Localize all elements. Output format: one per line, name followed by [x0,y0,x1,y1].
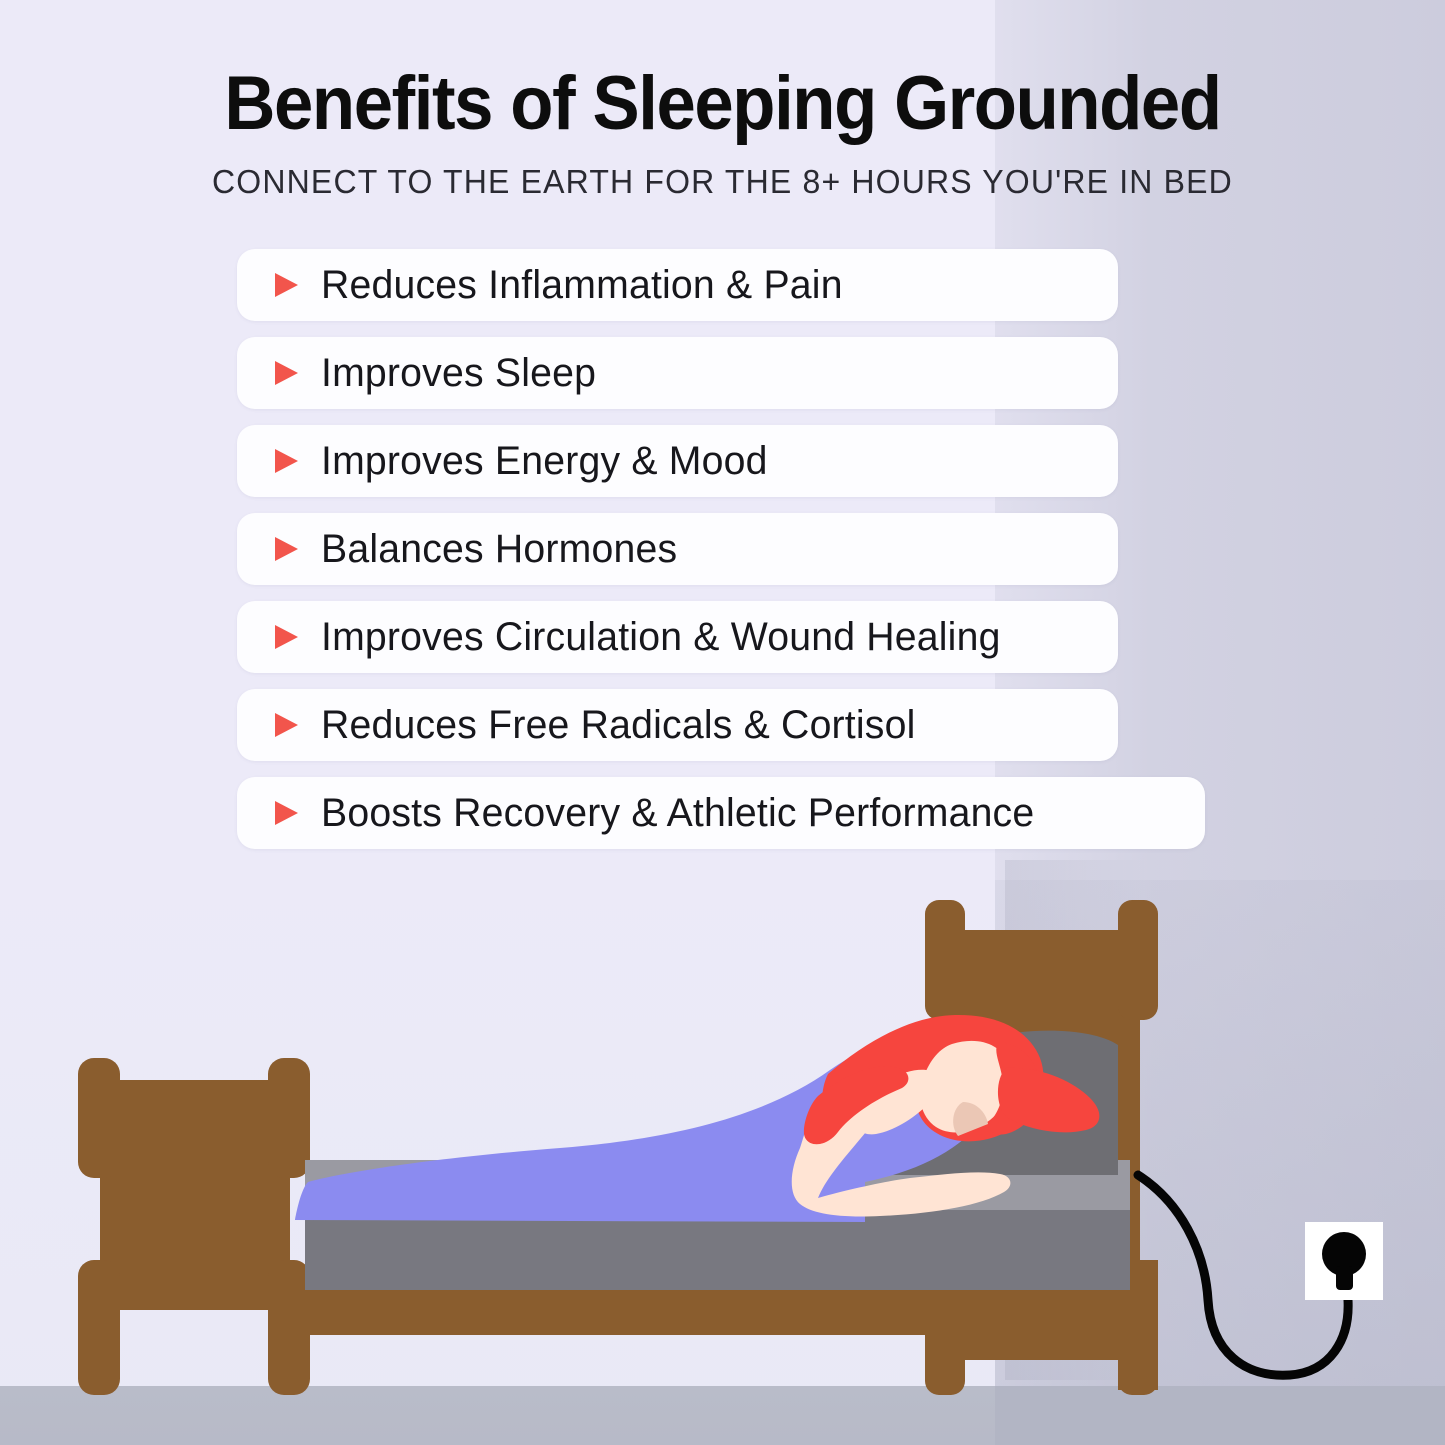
list-item[interactable]: Balances Hormones [237,513,1118,585]
list-item-label: Boosts Recovery & Athletic Performance [321,791,1034,836]
infographic-canvas: Benefits of Sleeping Grounded CONNECT TO… [0,0,1445,1445]
list-item-label: Reduces Free Radicals & Cortisol [321,703,916,748]
triangle-right-icon [275,448,299,474]
list-item[interactable]: Improves Circulation & Wound Healing [237,601,1118,673]
list-item[interactable]: Improves Sleep [237,337,1118,409]
page-title: Benefits of Sleeping Grounded [51,60,1395,147]
triangle-right-icon [275,272,299,298]
list-item-label: Improves Sleep [321,351,596,396]
benefits-list: Reduces Inflammation & Pain Improves Sle… [237,249,1205,865]
list-item[interactable]: Reduces Inflammation & Pain [237,249,1118,321]
triangle-right-icon [275,536,299,562]
triangle-right-icon [275,800,299,826]
list-item-label: Improves Circulation & Wound Healing [321,615,1001,660]
list-item[interactable]: Reduces Free Radicals & Cortisol [237,689,1118,761]
page-subtitle: CONNECT TO THE EARTH FOR THE 8+ HOURS YO… [22,163,1424,201]
list-item-label: Reduces Inflammation & Pain [321,263,843,308]
footboard [78,1058,310,1395]
bed-illustration [0,830,1445,1445]
triangle-right-icon [275,360,299,386]
bed-rail [290,1285,1130,1335]
list-item-label: Balances Hormones [321,527,677,572]
list-item[interactable]: Improves Energy & Mood [237,425,1118,497]
triangle-right-icon [275,624,299,650]
triangle-right-icon [275,712,299,738]
list-item-label: Improves Energy & Mood [321,439,768,484]
